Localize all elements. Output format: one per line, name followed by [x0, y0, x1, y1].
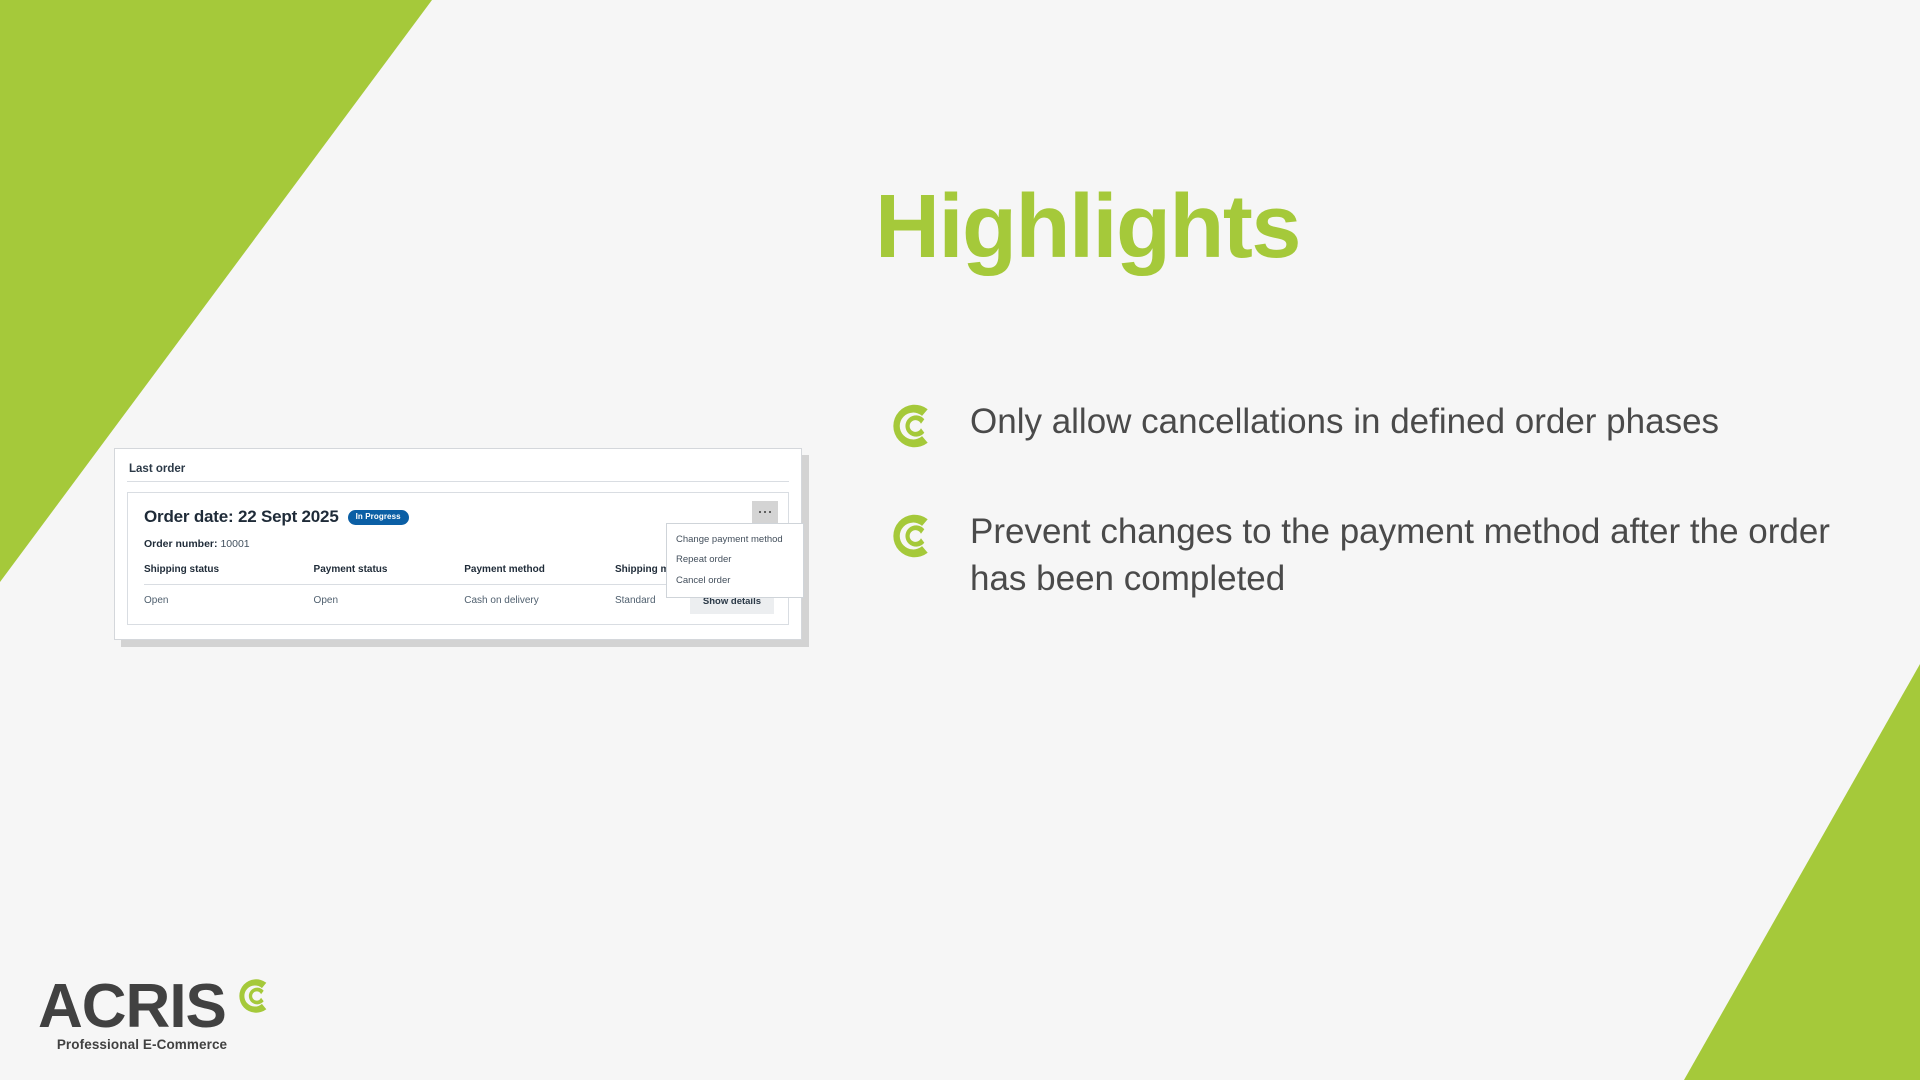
cell-payment-status: Open [314, 585, 465, 609]
logo-row: ACRIS [38, 980, 290, 1035]
menu-item-cancel-order[interactable]: Cancel order [667, 571, 803, 591]
highlights-list: Only allow cancellations in defined orde… [884, 396, 1864, 654]
logo-wordmark: ACRIS [38, 980, 226, 1035]
acris-c-icon [232, 974, 276, 1018]
cell-shipping-status: Open [144, 585, 314, 609]
column-header-payment-method: Payment method [464, 564, 615, 585]
logo-tagline: Professional E-Commerce [38, 1037, 246, 1052]
list-item-label: Only allow cancellations in defined orde… [970, 396, 1719, 446]
acris-logo: ACRIS Professional E-Commerce [38, 980, 290, 1052]
order-detail-card: Order date: 22 Sept 2025 In Progress Ord… [127, 492, 789, 625]
acris-c-icon [884, 398, 940, 454]
list-item: Only allow cancellations in defined orde… [884, 396, 1864, 454]
cell-payment-method: Cash on delivery [464, 585, 615, 609]
column-header-shipping-status: Shipping status [144, 564, 314, 585]
status-badge: In Progress [348, 510, 409, 525]
menu-item-change-payment-method[interactable]: Change payment method [667, 530, 803, 550]
bottom-right-green-triangle [1684, 664, 1920, 1080]
menu-item-repeat-order[interactable]: Repeat order [667, 550, 803, 570]
list-item: Prevent changes to the payment method af… [884, 506, 1864, 602]
last-order-heading: Last order [127, 459, 789, 482]
order-date-label: Order date: 22 Sept 2025 [144, 507, 339, 527]
column-header-payment-status: Payment status [314, 564, 465, 585]
acris-c-icon [884, 508, 940, 564]
order-screenshot-card: Last order Order date: 22 Sept 2025 In P… [114, 448, 802, 640]
list-item-label: Prevent changes to the payment method af… [970, 506, 1864, 602]
slide-root: Highlights Only allow cancellations in d… [0, 0, 1920, 1080]
ellipsis-icon-dot [764, 511, 767, 514]
order-actions-dropdown[interactable]: Change payment method Repeat order Cance… [666, 523, 804, 598]
order-number-value: 10001 [220, 538, 249, 550]
order-actions-kebab-button[interactable] [752, 501, 778, 523]
page-title: Highlights [875, 182, 1300, 272]
ellipsis-icon-dot [759, 511, 762, 514]
order-number-label: Order number: [144, 538, 218, 550]
ellipsis-icon-dot [769, 511, 772, 514]
